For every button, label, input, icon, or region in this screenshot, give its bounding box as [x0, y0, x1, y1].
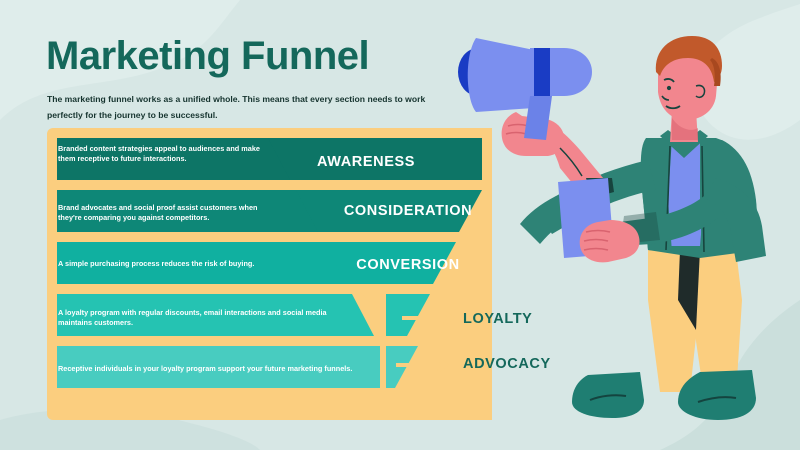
stage-description-advocacy: Receptive individuals in your loyalty pr… [58, 364, 368, 374]
text-layer: Marketing Funnel The marketing funnel wo… [0, 0, 800, 450]
stage-label-consideration: CONSIDERATION [344, 203, 472, 219]
page-subtitle: The marketing funnel works as a unified … [47, 92, 427, 124]
stage-description-awareness: Branded content strategies appeal to aud… [58, 144, 263, 165]
stage-description-loyalty: A loyalty program with regular discounts… [58, 308, 348, 329]
stage-label-loyalty: LOYALTY [463, 311, 532, 327]
stage-label-advocacy: ADVOCACY [463, 356, 551, 372]
stage-label-awareness: AWARENESS [317, 154, 415, 170]
stage-label-conversion: CONVERSION [356, 257, 460, 273]
page-title: Marketing Funnel [46, 36, 369, 76]
stage-description-consideration: Brand advocates and social proof assist … [58, 203, 280, 224]
stage-description-conversion: A simple purchasing process reduces the … [58, 259, 308, 269]
infographic-canvas: Marketing Funnel The marketing funnel wo… [0, 0, 800, 450]
